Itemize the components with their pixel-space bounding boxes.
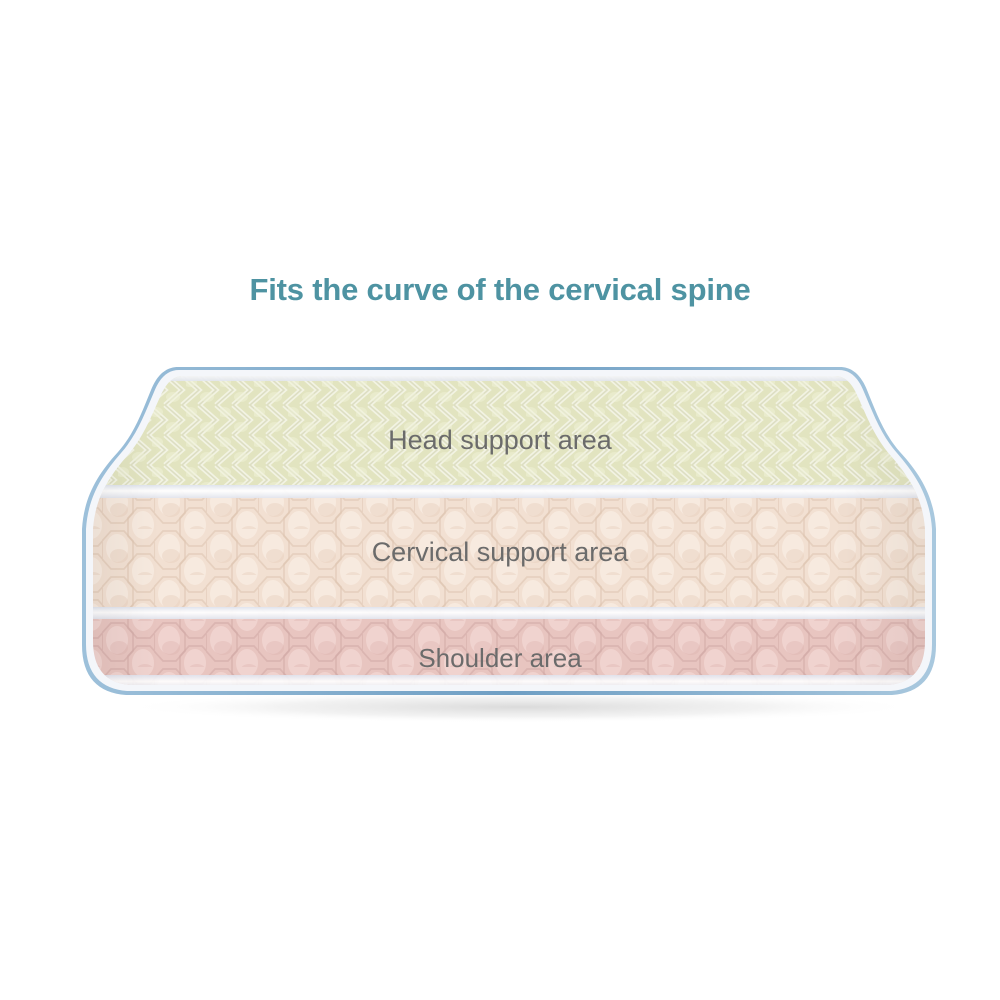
page-title: Fits the curve of the cervical spine bbox=[0, 272, 1000, 308]
pillow-drop-shadow bbox=[120, 691, 920, 723]
face-shading bbox=[50, 345, 970, 745]
pillow-body bbox=[50, 345, 970, 745]
pillow-graphic bbox=[50, 345, 970, 745]
pillow-illustration bbox=[50, 345, 970, 745]
infographic-canvas: Fits the curve of the cervical spine bbox=[0, 0, 1000, 1000]
